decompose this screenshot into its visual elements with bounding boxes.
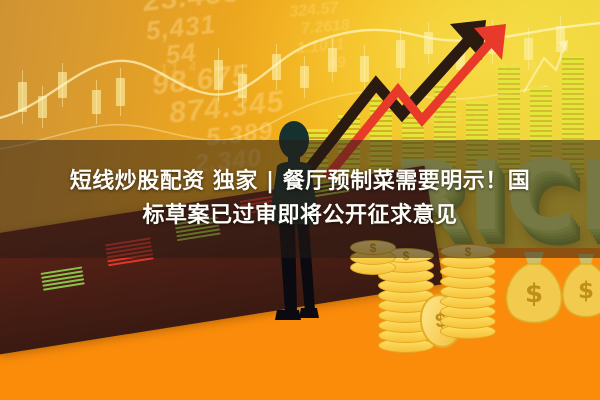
headline-line-1: 短线炒股配资 独家 | 餐厅预制菜需要明示！国 [70,167,531,197]
svg-text:$: $ [578,278,594,304]
money-bag-icon: $ [556,252,600,322]
board-tick-green [41,266,86,292]
svg-text:$: $ [525,279,543,309]
headline-text: 短线炒股配资 独家 | 餐厅预制菜需要明示！国 标草案已过审即将公开征求意见 [0,140,600,258]
headline-line-2: 标草案已过审即将公开征求意见 [142,201,457,231]
banner-image: 23.453 5,431 54 98.675 874.345 5.389 2.3… [0,0,600,400]
